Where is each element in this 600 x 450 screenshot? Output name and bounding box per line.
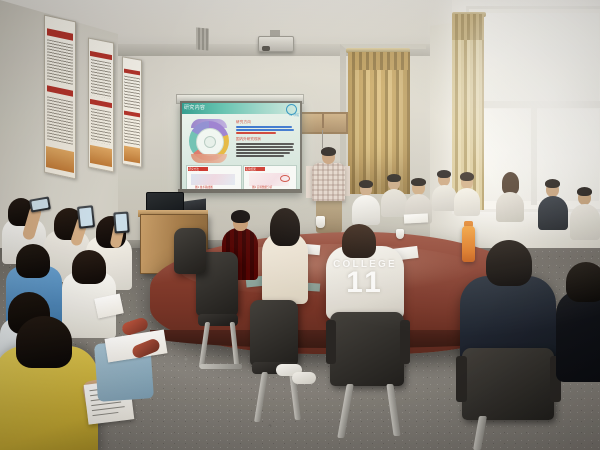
curtain-center (348, 52, 410, 194)
slide-panel-right: 实验结果 图2 实验数据分析 (243, 165, 297, 191)
slide-text-line (236, 152, 290, 154)
shoe (292, 372, 316, 384)
paper-cup (316, 216, 325, 228)
slide-text-line (236, 143, 294, 145)
audience-hair (359, 180, 373, 188)
audience-hair (72, 250, 106, 284)
wall-poster-2 (88, 37, 114, 172)
audience-hair (577, 187, 592, 196)
audience-hair (270, 208, 300, 246)
audience-hair (545, 179, 560, 188)
slide-panel-right-tag: 实验结果 (246, 167, 256, 171)
audience-body (556, 290, 600, 382)
wall-poster-3 (122, 56, 142, 168)
audience-hair (486, 240, 532, 286)
slide-text-line (236, 129, 294, 131)
projection-screen: 研究内容 NIT学院 研究方向 国内外研究现状 研究方法 图1 技术路线图 实验… (180, 101, 302, 193)
handout-paper (404, 213, 428, 223)
phone-screen (31, 199, 48, 211)
audience-body (496, 192, 524, 222)
phone-screen (115, 214, 127, 232)
slide-panel-left-tag: 研究方法 (189, 167, 199, 171)
projector-lens-icon (262, 46, 270, 51)
audience-body (352, 195, 380, 225)
presenter-shirt (312, 163, 345, 201)
wall-cabinet (300, 112, 348, 134)
window-frame (466, 6, 600, 212)
ceiling-vent (196, 27, 209, 50)
presenter-hair (321, 147, 336, 156)
chair-foot-rail (200, 364, 242, 369)
audience-hair (411, 178, 426, 186)
chair[interactable] (250, 300, 298, 366)
audience-body (381, 189, 407, 217)
slide-panel-right-highlight (280, 175, 290, 182)
cabinet-cord (322, 130, 323, 148)
slide-heading-1: 研究方向 (236, 120, 251, 125)
slide-text-line (236, 146, 293, 148)
curtain-header-center (348, 52, 410, 70)
audience-body (538, 196, 568, 230)
audience-hair (16, 244, 50, 278)
slide-diagram-arc-bottom (191, 154, 227, 163)
window-pane-top (473, 13, 599, 101)
jacket-text-number: 11 (333, 268, 397, 298)
cabinet-divider (322, 114, 324, 128)
chair[interactable] (462, 348, 554, 420)
audience-hair (387, 174, 401, 182)
window-mullion-vertical (531, 105, 537, 205)
audience-body (454, 188, 480, 216)
chair-armrest (456, 356, 467, 402)
slide-diagram-core (204, 136, 216, 148)
curtain-valance-right (452, 14, 484, 40)
slide-text-line (236, 155, 284, 157)
slide-title: 研究内容 (184, 104, 205, 111)
slide-text-line (236, 126, 292, 128)
slide-panel-left-figure (191, 174, 235, 185)
slide-logo-text: NIT学院 (290, 113, 299, 117)
chair[interactable] (174, 228, 206, 274)
audience-hair (502, 172, 519, 194)
chair-armrest (326, 320, 336, 364)
chair[interactable] (330, 312, 404, 386)
audience-hair (566, 262, 600, 302)
slide-text-line (236, 149, 294, 151)
slide-text-line (236, 132, 276, 134)
audience-body (570, 204, 600, 240)
paper-cup (396, 229, 404, 239)
phone[interactable] (113, 212, 129, 234)
slide-heading-2: 国内外研究现状 (236, 137, 261, 142)
audience-hair (460, 172, 474, 181)
audience-hair (437, 170, 451, 178)
projection-screen-weight-bar (178, 189, 300, 193)
chair-armrest (400, 320, 410, 364)
phone-screen (79, 207, 93, 226)
audience-hair (342, 224, 376, 258)
audience-hair (231, 210, 250, 223)
phone[interactable] (77, 205, 95, 229)
wall-poster-1 (44, 15, 76, 180)
slide-panel-left: 研究方法 图1 技术路线图 (186, 165, 242, 191)
seminar-room-photo: 研究内容 NIT学院 研究方向 国内外研究现状 研究方法 图1 技术路线图 实验… (0, 0, 600, 450)
notetaker-hair (16, 316, 72, 368)
beverage-bottle (462, 226, 475, 262)
